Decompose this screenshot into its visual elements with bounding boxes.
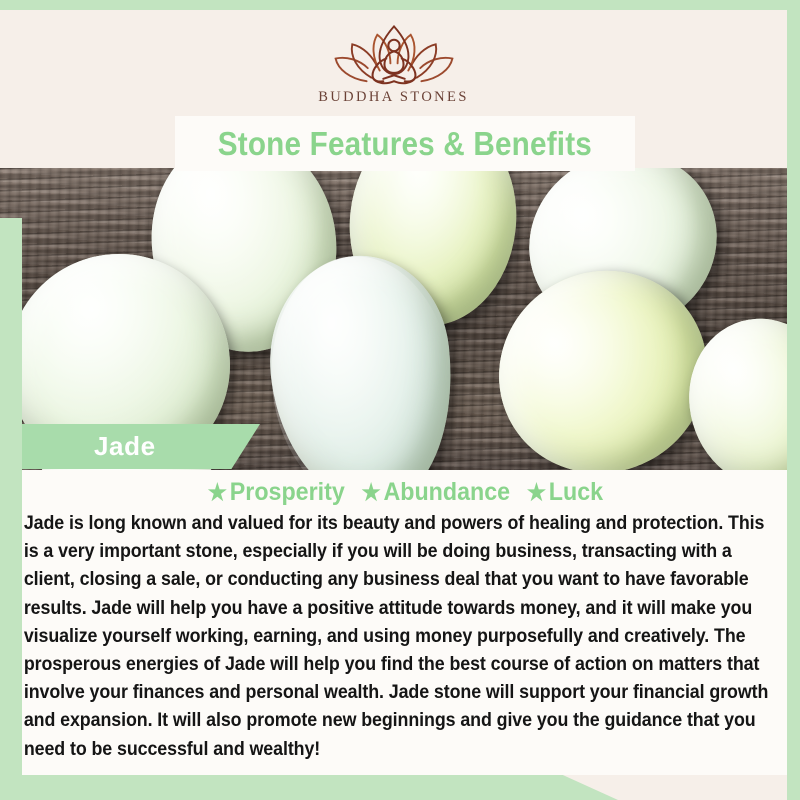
body-description: Jade is long known and valued for its be… — [22, 507, 789, 763]
keyword-luck: Luck — [549, 478, 603, 506]
star-icon: ★ — [362, 479, 381, 506]
title-banner: Stone Features & Benefits — [175, 116, 635, 171]
keyword-prosperity: Prosperity — [230, 478, 345, 506]
frame-bottom-bar — [0, 772, 618, 800]
brand-name: BUDDHA STONES — [318, 89, 469, 106]
lotus-meditation-icon — [328, 24, 460, 86]
keywords-row: ★Prosperity★Abundance★Luck — [49, 470, 760, 507]
frame-left-bar — [0, 218, 22, 778]
page-title: Stone Features & Benefits — [218, 125, 592, 163]
frame-right-bar — [787, 0, 800, 800]
star-icon: ★ — [208, 479, 227, 506]
stone-name-label: Jade — [94, 431, 156, 462]
star-icon: ★ — [527, 479, 546, 506]
brand-header: BUDDHA STONES — [0, 10, 787, 122]
stone-name-tag: Jade — [22, 424, 260, 469]
keyword-abundance: Abundance — [383, 478, 510, 506]
poster-root: BUDDHA STONES — [0, 0, 800, 800]
content-panel: ★Prosperity★Abundance★Luck Jade is long … — [22, 470, 787, 775]
